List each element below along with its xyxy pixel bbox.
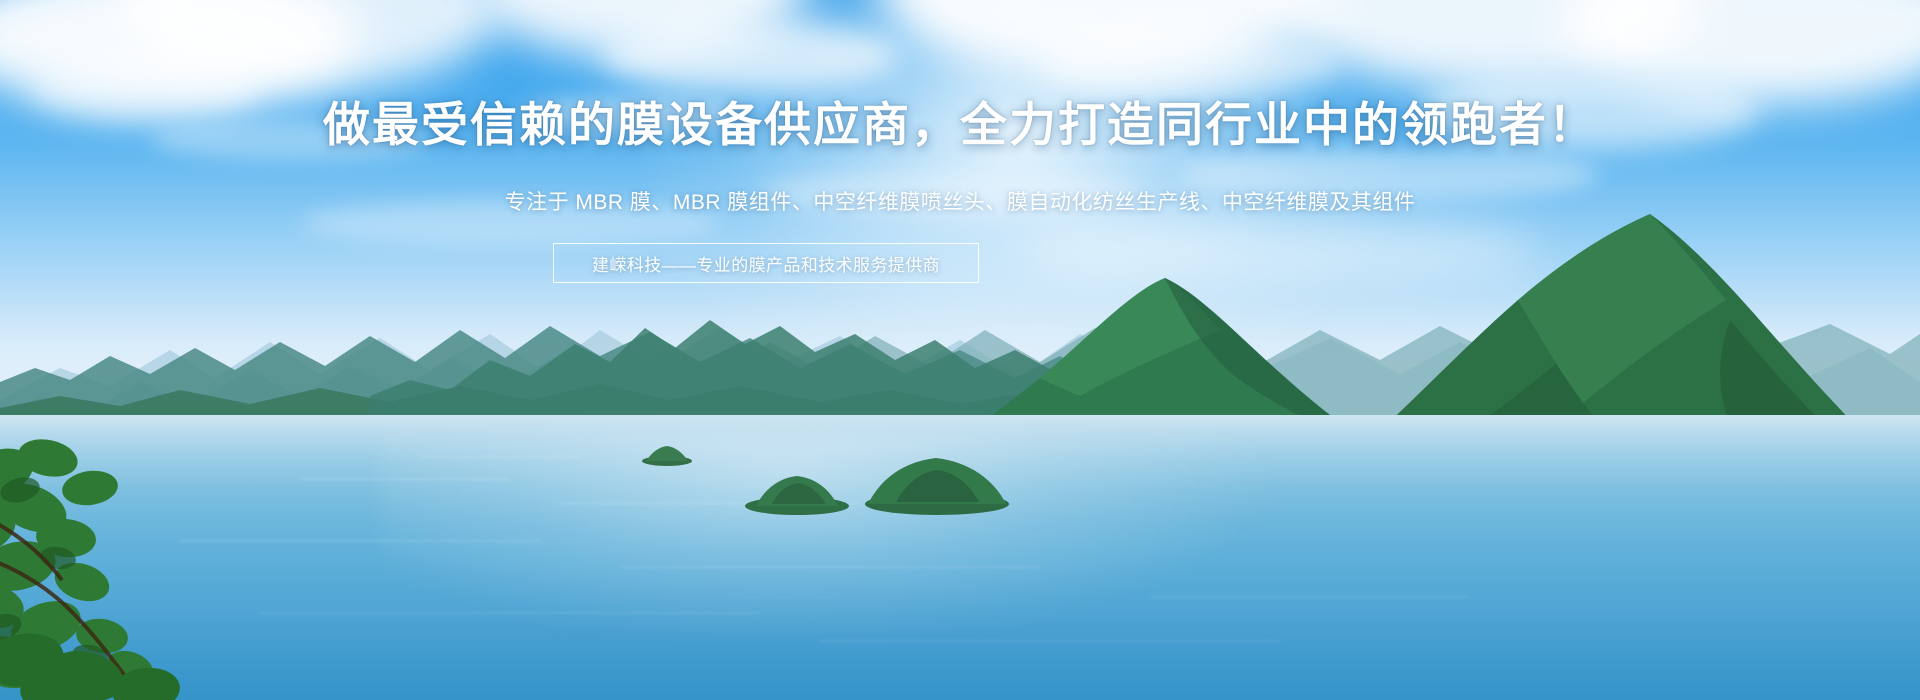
island-small [742,470,852,521]
hero-banner: 做最受信赖的膜设备供应商，全力打造同行业中的领跑者！ 专注于 MBR 膜、MBR… [0,0,1920,700]
cloud-icon [300,200,720,246]
cloud-icon [520,96,740,132]
water-ripple [620,566,1040,568]
cloud-icon [150,120,430,160]
island-tiny [640,444,694,471]
water-ripple [1150,596,1470,598]
water-ripple [420,456,580,458]
island-wooded [862,452,1012,521]
water-ripple [820,640,1280,642]
foreground-foliage-bottom [0,620,210,700]
cloud-icon [600,20,900,92]
cloud-icon [1040,30,1340,100]
water-reflection [380,430,1280,640]
water-ripple [260,612,760,614]
cloud-icon [760,170,1140,214]
cloud-icon [1420,70,1760,150]
cloud-icon [30,60,260,120]
water-ripple [300,478,510,480]
cloud-icon [1180,150,1600,200]
